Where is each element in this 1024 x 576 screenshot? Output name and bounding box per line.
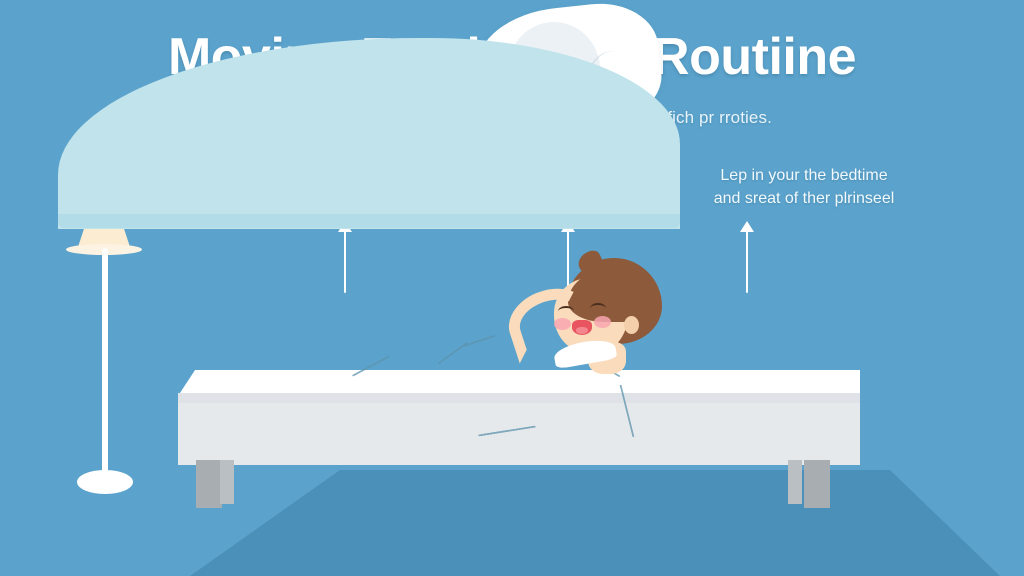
sleeping-child-illustration bbox=[530, 258, 690, 378]
lamp-pole bbox=[102, 248, 108, 480]
callout-3-line-1: Lep in your the bedtime bbox=[672, 164, 936, 187]
child-cheek-right bbox=[594, 316, 611, 328]
bed-leg-front-left bbox=[196, 460, 222, 508]
callout-3-line-2: and sreat of ther plrinseel bbox=[672, 187, 936, 210]
bed-illustration bbox=[170, 255, 870, 520]
bed-leg-front-right bbox=[804, 460, 830, 508]
infographic-canvas: Moving Feed elly in Routiine I stapriedy… bbox=[0, 0, 1024, 576]
blanket-hem bbox=[58, 214, 680, 228]
bed-leg-back-left bbox=[220, 460, 234, 504]
child-ear bbox=[624, 316, 639, 334]
bed-frame-shading bbox=[178, 393, 860, 403]
lamp-base bbox=[77, 470, 133, 494]
callout-label-3: Lep in your the bedtime and sreat of the… bbox=[672, 164, 936, 210]
bed-leg-back-right bbox=[788, 460, 802, 504]
child-eye-right bbox=[590, 303, 606, 314]
